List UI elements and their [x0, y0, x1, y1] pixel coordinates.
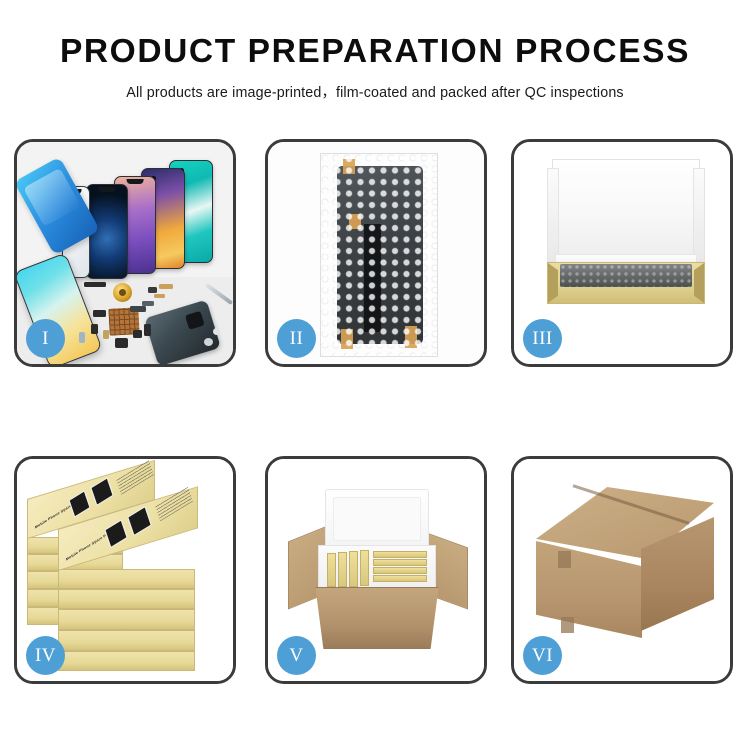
step-badge-4: IV	[26, 636, 65, 675]
box-spec-lines	[116, 459, 154, 494]
box-spec-lines	[155, 486, 193, 521]
yellow-box-item	[327, 553, 336, 587]
part-screw-icon	[103, 330, 109, 339]
part-bracket-icon	[130, 306, 146, 312]
flex-cable-icon	[154, 294, 165, 298]
yellow-box-item	[373, 559, 427, 566]
part-module-icon	[133, 330, 142, 338]
step-panel-5: V	[265, 456, 487, 684]
part-screw-icon	[204, 338, 213, 346]
step-panel-6: VI	[511, 456, 733, 684]
box-thumbnail-icon	[68, 490, 90, 517]
carton-left-face	[536, 541, 642, 638]
step-panel-2: II	[265, 139, 487, 367]
part-connector-icon	[93, 310, 106, 317]
yellow-box-item	[360, 550, 369, 586]
carton-tape-tab	[558, 551, 571, 568]
yellow-box-item	[373, 567, 427, 574]
foam-lid	[552, 159, 700, 265]
process-step-grid: I II	[14, 139, 736, 684]
flex-cable-strip	[364, 224, 381, 332]
bubble-wrap-bag	[320, 153, 438, 357]
yellow-box-item	[373, 575, 427, 582]
part-chip-icon	[148, 287, 157, 293]
stacked-box	[58, 589, 195, 609]
step-panel-4: Mobile Phone Spare Parts Mobile Phone Sp…	[14, 456, 236, 684]
stacked-box	[58, 609, 195, 630]
step-badge-1: I	[26, 319, 65, 358]
notch-icon	[99, 187, 116, 192]
part-module-icon	[144, 324, 151, 336]
product-preparation-infographic: PRODUCT PREPARATION PROCESS All products…	[0, 0, 750, 750]
flex-cable-icon	[159, 284, 173, 289]
step-panel-3: III	[511, 139, 733, 367]
part-button-icon	[79, 332, 85, 343]
step-badge-2: II	[277, 319, 316, 358]
bubble-wrapped-contents	[560, 264, 692, 287]
page-subtitle: All products are image-printed，film-coat…	[0, 81, 750, 102]
tape-tab-icon	[349, 214, 361, 229]
notch-icon	[127, 179, 144, 184]
yellow-box-item	[338, 552, 347, 587]
step-panel-1: I	[14, 139, 236, 367]
gold-coil-part-icon	[113, 283, 132, 302]
page-title: PRODUCT PREPARATION PROCESS	[0, 34, 750, 69]
box-thumbnail-icon	[90, 477, 113, 506]
yellow-box-item	[349, 551, 358, 587]
step-badge-5: V	[277, 636, 316, 675]
stacked-box	[58, 651, 195, 671]
loaded-yellow-boxes	[325, 549, 429, 587]
tape-tab-icon	[343, 159, 355, 174]
yellow-box-item	[373, 551, 427, 558]
box-thumbnail-icon	[104, 519, 127, 548]
part-strip-icon	[84, 282, 106, 287]
tape-tab-icon	[405, 326, 417, 348]
part-bracket-icon	[142, 301, 154, 306]
carton-tape-tab	[561, 617, 574, 633]
header: PRODUCT PREPARATION PROCESS All products…	[0, 34, 750, 102]
carton-front-panel	[310, 587, 444, 649]
part-connector-icon	[91, 324, 98, 334]
step-badge-3: III	[523, 319, 562, 358]
foam-box-lid	[325, 489, 429, 549]
stacked-box	[58, 630, 195, 651]
part-screw-icon	[213, 328, 220, 335]
stacked-box	[58, 569, 195, 589]
tape-tab-icon	[341, 329, 353, 349]
box-thumbnail-icon	[127, 506, 152, 536]
part-speaker-icon	[115, 338, 128, 348]
step-badge-6: VI	[523, 636, 562, 675]
